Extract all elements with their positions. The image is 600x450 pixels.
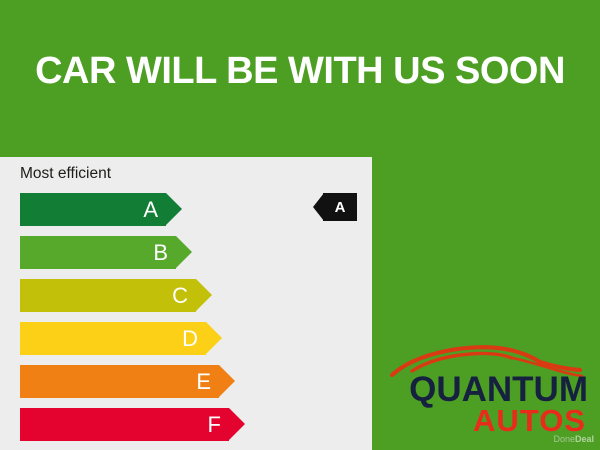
band-letter: E	[196, 371, 211, 393]
efficiency-band-a: A	[20, 193, 182, 226]
band-tip-icon	[196, 279, 212, 311]
band-body	[20, 365, 219, 398]
most-efficient-caption: Most efficient	[20, 166, 111, 182]
watermark-prefix: Done	[553, 434, 575, 444]
band-body	[20, 322, 206, 355]
logo-wordmark: QUANTUM AUTOS	[388, 374, 588, 436]
brand-logo: QUANTUM AUTOS	[388, 338, 588, 434]
current-rating-marker: A	[313, 193, 357, 221]
logo-secondary-text: AUTOS	[388, 406, 588, 435]
marker-letter: A	[313, 193, 357, 221]
band-letter: C	[172, 285, 188, 307]
band-tip-icon	[166, 193, 182, 225]
headline-text: CAR WILL BE WITH US SOON	[35, 52, 565, 90]
logo-primary-text: QUANTUM	[388, 374, 588, 406]
band-body	[20, 408, 229, 441]
band-letter: D	[182, 328, 198, 350]
efficiency-band-d: D	[20, 322, 222, 355]
efficiency-band-c: C	[20, 279, 212, 312]
watermark-suffix: Deal	[575, 434, 594, 444]
band-tip-icon	[206, 322, 222, 354]
efficiency-band-f: F	[20, 408, 245, 441]
band-body	[20, 279, 196, 312]
watermark: DoneDeal	[553, 435, 594, 444]
band-tip-icon	[176, 236, 192, 268]
efficiency-band-b: B	[20, 236, 192, 269]
band-letter: A	[143, 199, 158, 221]
listing-image: CAR WILL BE WITH US SOON Most efficient …	[0, 0, 600, 450]
band-tip-icon	[219, 365, 235, 397]
efficiency-band-e: E	[20, 365, 235, 398]
band-letter: F	[208, 414, 221, 436]
band-letter: B	[153, 242, 168, 264]
headline-banner: CAR WILL BE WITH US SOON	[0, 0, 600, 157]
band-tip-icon	[229, 408, 245, 440]
